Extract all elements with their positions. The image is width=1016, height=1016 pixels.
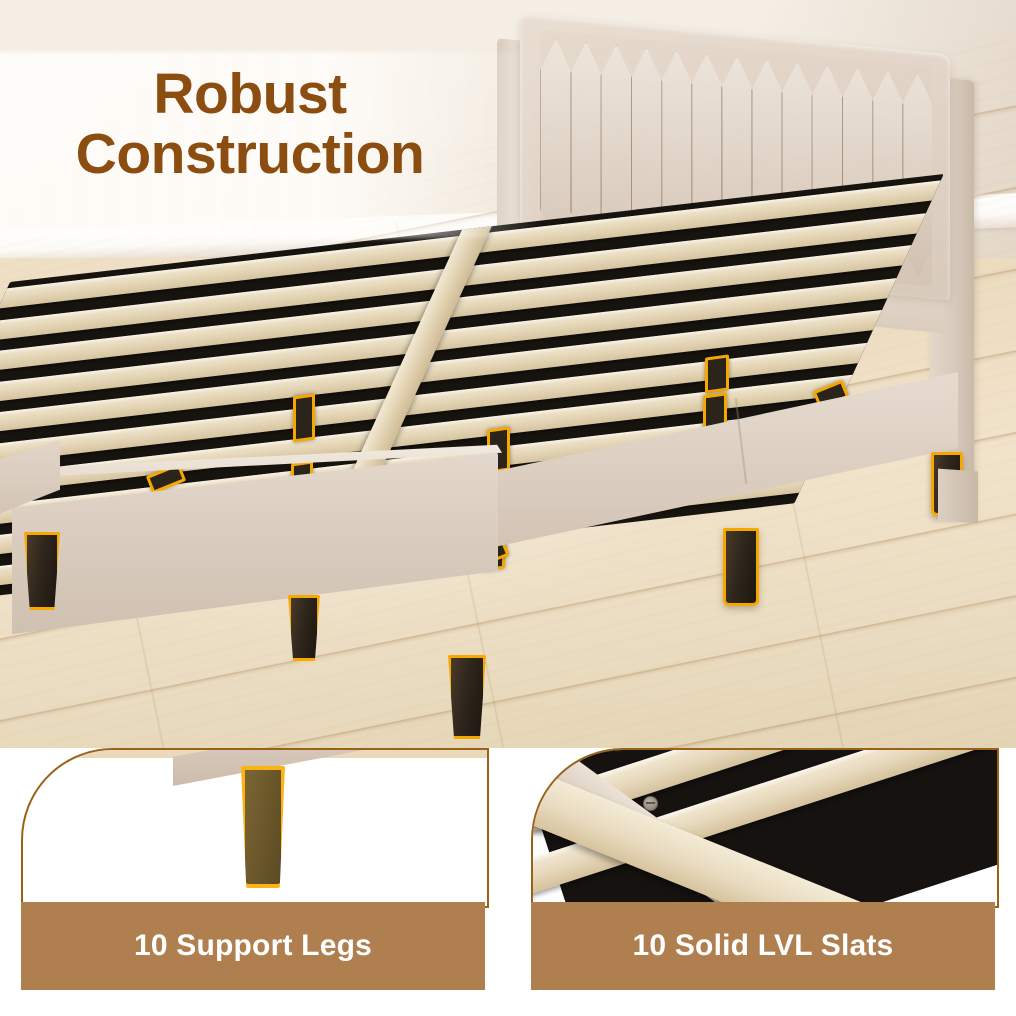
screw-icon	[643, 796, 658, 811]
support-leg	[24, 532, 60, 610]
support-leg	[723, 528, 759, 606]
inset-slat-closeup	[533, 750, 997, 906]
center-support-leg-highlight	[705, 354, 729, 393]
headboard-tuft-cell	[540, 38, 570, 245]
product-feature-graphic: Robust Construction 10 Support Legs 10 S…	[0, 0, 1016, 1016]
center-support-leg-highlight	[293, 393, 315, 442]
support-legs-caption: 10 Support Legs	[21, 902, 485, 990]
lvl-slats-caption-text: 10 Solid LVL Slats	[633, 929, 894, 963]
headboard-post-foot	[938, 469, 978, 524]
page-title: Robust Construction	[0, 64, 500, 185]
support-leg	[288, 595, 320, 661]
hero-room-scene: Robust Construction	[0, 0, 1016, 752]
lvl-slats-image-frame	[531, 748, 999, 908]
support-legs-image-frame	[21, 748, 489, 908]
feature-panels: 10 Support Legs 10 Solid LVL Slats	[0, 748, 1016, 1016]
feature-panel-lvl-slats[interactable]: 10 Solid LVL Slats	[531, 748, 995, 990]
highlighted-support-leg	[241, 766, 285, 888]
feature-panel-support-legs[interactable]: 10 Support Legs	[21, 748, 485, 990]
support-leg	[448, 655, 486, 739]
support-legs-caption-text: 10 Support Legs	[134, 929, 372, 963]
headline-line-2: Construction	[0, 124, 500, 184]
lvl-slats-caption: 10 Solid LVL Slats	[531, 902, 995, 990]
headline-line-1: Robust	[153, 62, 346, 126]
